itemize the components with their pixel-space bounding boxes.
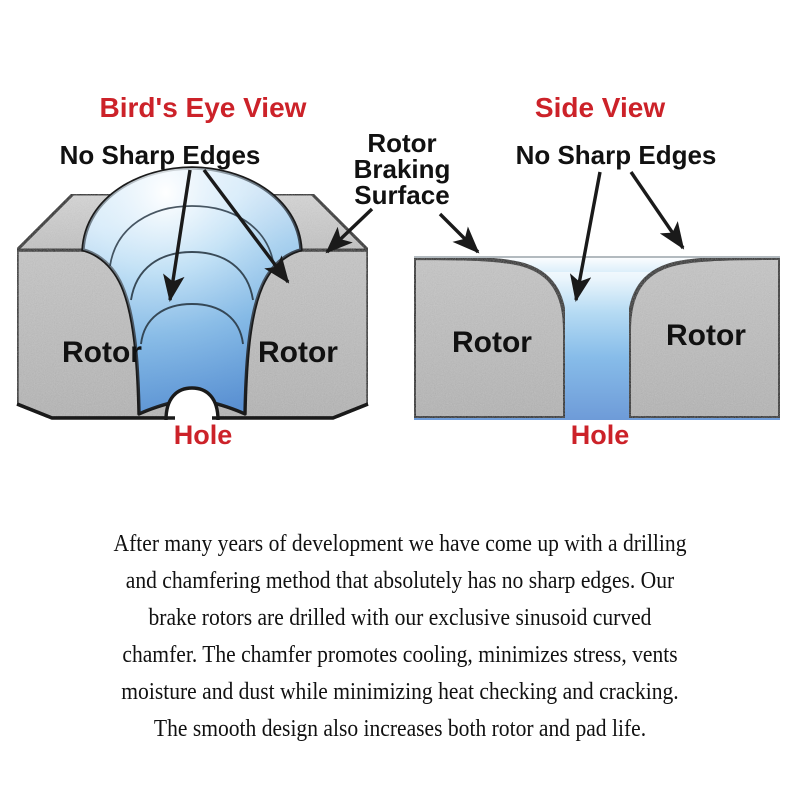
- description-line-1: After many years of development we have …: [48, 525, 752, 562]
- rotor-label-left: Rotor: [62, 336, 142, 369]
- rotor-label-right: Rotor: [258, 336, 338, 369]
- hole-label-right-view: Hole: [571, 420, 630, 450]
- side-view-rotor-label-left: Rotor: [452, 326, 532, 359]
- description-line-2: and chamfering method that absolutely ha…: [48, 562, 752, 599]
- hole-label-left-view: Hole: [174, 420, 233, 450]
- rotor-braking-surface-label-line3: Surface: [354, 180, 449, 210]
- description-paragraph: After many years of development we have …: [48, 525, 752, 747]
- side-view-title: Side View: [535, 92, 665, 123]
- no-sharp-edges-label-left: No Sharp Edges: [60, 140, 261, 170]
- description-line-6: The smooth design also increases both ro…: [48, 710, 752, 747]
- description-line-3: brake rotors are drilled with our exclus…: [48, 599, 752, 636]
- leader-arrow-side-no-sharp-edges-b: [631, 172, 683, 248]
- description-line-4: chamfer. The chamfer promotes cooling, m…: [48, 636, 752, 673]
- side-view-group: Side View No Sharp Edges Rotor Rotor Hol…: [414, 92, 780, 450]
- figure-canvas: Rotor Rotor Bird's Eye View No Sharp Edg…: [0, 0, 800, 800]
- leader-arrow-side-braking-surface: [440, 214, 478, 252]
- birds-eye-view-group: Rotor Rotor Bird's Eye View No Sharp Edg…: [17, 92, 450, 450]
- no-sharp-edges-label-right: No Sharp Edges: [516, 140, 717, 170]
- birds-eye-view-title: Bird's Eye View: [100, 92, 307, 123]
- brake-rotor-chamfer-diagram: Rotor Rotor Bird's Eye View No Sharp Edg…: [0, 0, 800, 500]
- side-view-rotor-label-right: Rotor: [666, 319, 746, 352]
- description-line-5: moisture and dust while minimizing heat …: [48, 673, 752, 710]
